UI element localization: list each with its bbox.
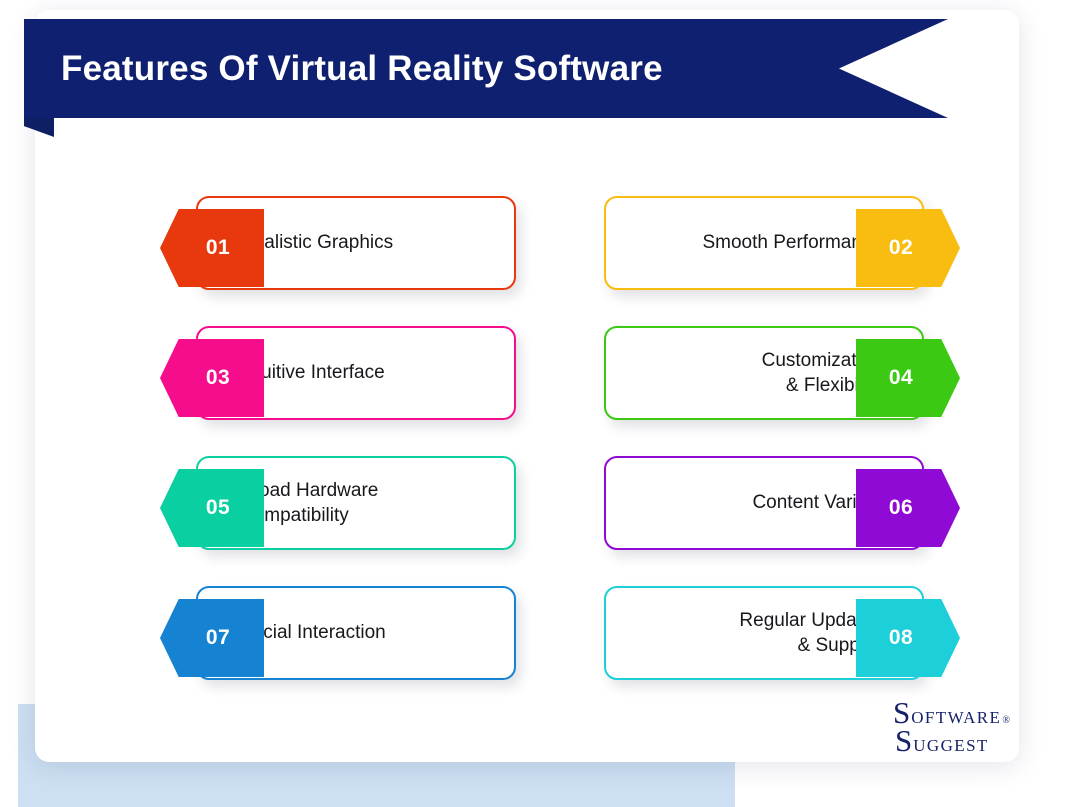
- feature-number-badge: 04: [856, 339, 960, 417]
- softwaresuggest-logo: S OFTWARE ® S UGGEST: [893, 700, 1023, 754]
- feature-number-badge: 05: [160, 469, 264, 547]
- feature-item-04[interactable]: Customization & Flexibility 04: [580, 326, 960, 434]
- feature-number: 06: [889, 496, 913, 520]
- feature-row: Intuitive Interface 03 Customization & F…: [0, 326, 1083, 456]
- feature-row: Broad Hardware Compatibility 05 Content …: [0, 456, 1083, 586]
- feature-number-badge: 02: [856, 209, 960, 287]
- feature-number: 08: [889, 626, 913, 650]
- feature-item-05[interactable]: Broad Hardware Compatibility 05: [160, 456, 540, 564]
- registered-trademark-icon: ®: [1002, 716, 1010, 726]
- feature-number: 01: [206, 236, 230, 260]
- feature-number: 04: [889, 366, 913, 390]
- feature-label: Smooth Performance: [702, 230, 882, 255]
- page-title: Features Of Virtual Reality Software: [61, 49, 663, 89]
- feature-number-badge: 06: [856, 469, 960, 547]
- feature-item-06[interactable]: Content Variety 06: [580, 456, 960, 564]
- feature-row: Realistic Graphics 01 Smooth Performance…: [0, 196, 1083, 326]
- feature-row: Social Interaction 07 Regular Updates & …: [0, 586, 1083, 716]
- feature-number-badge: 01: [160, 209, 264, 287]
- logo-word-suggest: UGGEST: [913, 737, 988, 754]
- feature-number: 07: [206, 626, 230, 650]
- logo-capital-s: S: [893, 700, 910, 725]
- header-ribbon: Features Of Virtual Reality Software: [0, 19, 948, 129]
- feature-number: 02: [889, 236, 913, 260]
- ribbon-banner: Features Of Virtual Reality Software: [24, 19, 948, 118]
- logo-line-one: S OFTWARE ®: [893, 700, 1023, 726]
- logo-line-two: S UGGEST: [895, 728, 1023, 754]
- feature-number-badge: 03: [160, 339, 264, 417]
- feature-item-01[interactable]: Realistic Graphics 01: [160, 196, 540, 304]
- feature-number: 05: [206, 496, 230, 520]
- feature-item-03[interactable]: Intuitive Interface 03: [160, 326, 540, 434]
- feature-item-07[interactable]: Social Interaction 07: [160, 586, 540, 694]
- feature-item-02[interactable]: Smooth Performance 02: [580, 196, 960, 304]
- feature-number-badge: 07: [160, 599, 264, 677]
- feature-item-08[interactable]: Regular Updates & Support 08: [580, 586, 960, 694]
- feature-number: 03: [206, 366, 230, 390]
- logo-word-software: OFTWARE: [911, 709, 1001, 726]
- feature-number-badge: 08: [856, 599, 960, 677]
- logo-capital-s-second: S: [895, 728, 912, 753]
- features-grid: Realistic Graphics 01 Smooth Performance…: [0, 196, 1083, 716]
